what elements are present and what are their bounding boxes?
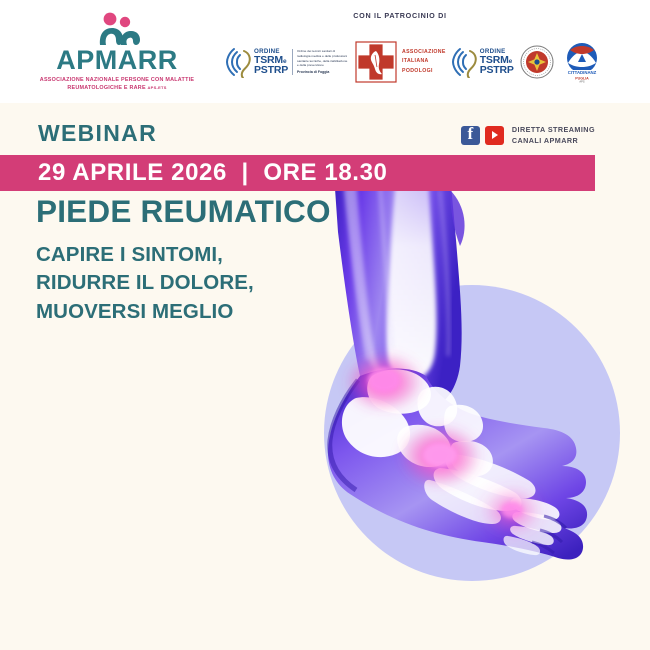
streaming-line2: CANALI APMARR <box>512 135 595 146</box>
sponsor-logo-emblem <box>520 45 554 79</box>
sponsor-logo-row: ORDINE TSRMe PSTRP Ordine dei tecnici sa… <box>226 32 636 92</box>
facebook-icon[interactable] <box>461 126 480 145</box>
sponsor-logo-podologi: ASSOCIAZIONE ITALIANA PODOLOGI <box>355 41 446 83</box>
tsrm2-line3: PSTRP <box>480 65 514 75</box>
tsrm-line3: PSTRP <box>254 65 288 75</box>
tsrm-swirl-icon-2 <box>452 46 478 78</box>
apmarr-tagline: ASSOCIAZIONE NAZIONALE PERSONE CON MALAT… <box>27 77 207 93</box>
patrocinio-label: CON IL PATROCINIO DI <box>0 11 650 20</box>
patrocinio-label-text: CON IL PATROCINIO DI <box>203 11 446 20</box>
podologi-line1: ASSOCIAZIONE <box>402 48 446 57</box>
podologi-line2: ITALIANA <box>402 57 446 66</box>
tibia-bone <box>387 180 437 380</box>
sponsor-logo-cittadinanzattiva: CITTADINANZ PUGLIA APS <box>560 41 604 83</box>
inflammation-midfoot-core <box>423 443 457 467</box>
apmarr-logo: APMARR ASSOCIAZIONE NAZIONALE PERSONE CO… <box>22 12 212 94</box>
podologi-wordmark: ASSOCIAZIONE ITALIANA PODOLOGI <box>402 48 446 75</box>
tsrm-wordmark-2: ORDINE TSRMe PSTRP <box>480 49 514 76</box>
svg-text:CITTADINANZ: CITTADINANZ <box>567 70 596 75</box>
tsrm-province: Provincia di Foggia <box>297 70 349 75</box>
page-subtitle: CAPIRE I SINTOMI, RIDURRE IL DOLORE, MUO… <box>36 241 254 326</box>
apmarr-wordmark: APMARR <box>56 47 178 74</box>
poster-canvas: APMARR ASSOCIAZIONE NAZIONALE PERSONE CO… <box>0 0 650 650</box>
youtube-icon[interactable] <box>485 126 504 145</box>
streaming-text: DIRETTA STREAMING CANALI APMARR <box>512 124 595 146</box>
podologi-cross-icon <box>355 41 397 83</box>
podologi-line3: PODOLOGI <box>402 67 446 76</box>
svg-text:APS: APS <box>579 80 584 83</box>
tsrm-wordmark: ORDINE TSRMe PSTRP <box>254 49 288 76</box>
streaming-info: DIRETTA STREAMING CANALI APMARR <box>461 124 595 146</box>
inflammation-ankle-core <box>368 368 400 392</box>
webinar-kicker: WEBINAR <box>38 120 157 147</box>
apmarr-tagline-suffix: APS-ETS <box>148 85 167 90</box>
tsrm-description-text: Ordine dei tecnici sanitari di radiologi… <box>297 49 347 67</box>
tsrm-swirl-icon <box>226 46 252 78</box>
foot-xray-illustration <box>300 180 650 600</box>
header-bar: APMARR ASSOCIAZIONE NAZIONALE PERSONE CO… <box>0 0 650 103</box>
apmarr-tagline-line2: REUMATOLOGICHE E RARE <box>67 85 145 91</box>
inflammation-toe-core <box>501 502 523 518</box>
sponsor-logo-tsrm: ORDINE TSRMe PSTRP <box>452 46 514 78</box>
apmarr-tagline-line1: ASSOCIAZIONE NAZIONALE PERSONE CON MALAT… <box>40 77 194 83</box>
date-time-text: 29 APRILE 2026 | ORE 18.30 <box>38 159 387 187</box>
sponsor-logo-tsrm-foggia: ORDINE TSRMe PSTRP Ordine dei tecnici sa… <box>226 46 349 78</box>
date-time-band: 29 APRILE 2026 | ORE 18.30 <box>0 155 595 191</box>
streaming-line1: DIRETTA STREAMING <box>512 124 595 135</box>
tsrm-description: Ordine dei tecnici sanitari di radiologi… <box>292 49 349 75</box>
page-title: PIEDE REUMATICO <box>36 196 331 228</box>
